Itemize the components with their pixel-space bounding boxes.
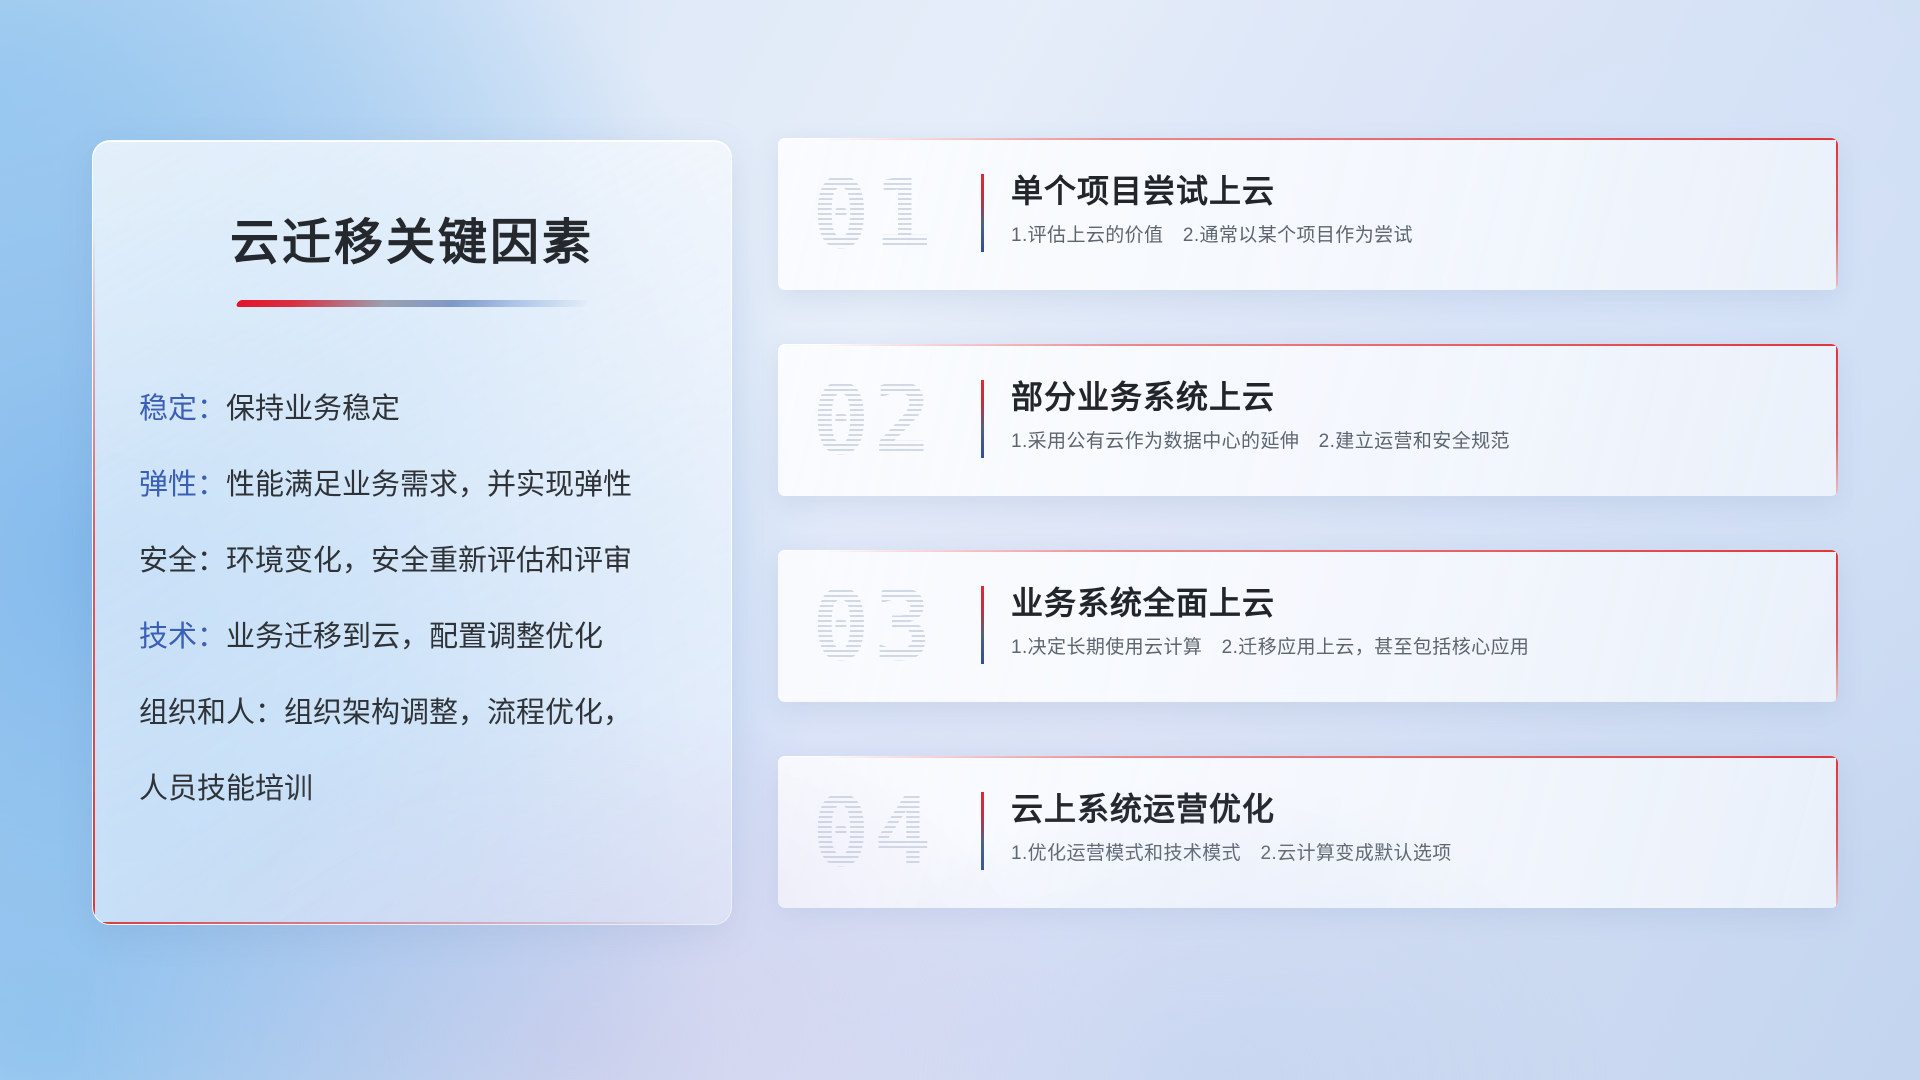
stage-description: 1.决定长期使用云计算 2.迁移应用上云，甚至包括核心应用 bbox=[1011, 636, 1808, 661]
page-title: 云迁移关键因素 bbox=[93, 203, 731, 274]
stage-number: 03 bbox=[812, 570, 936, 682]
list-item: 稳定：保持业务稳定 bbox=[139, 395, 699, 424]
stage-content: 部分业务系统上云 1.采用公有云作为数据中心的延伸 2.建立运营和安全规范 bbox=[1011, 378, 1808, 455]
stage-title: 业务系统全面上云 bbox=[1011, 584, 1808, 623]
stage-content: 业务系统全面上云 1.决定长期使用云计算 2.迁移应用上云，甚至包括核心应用 bbox=[1011, 584, 1808, 661]
stage-accent-bar bbox=[981, 792, 984, 870]
factor-value: 业务迁移到云，配置调整优化 bbox=[226, 621, 603, 653]
stage-card-02[interactable]: 02 部分业务系统上云 1.采用公有云作为数据中心的延伸 2.建立运营和安全规范 bbox=[778, 344, 1838, 496]
factor-key: 安全： bbox=[139, 545, 226, 577]
stage-accent-bar bbox=[981, 380, 984, 458]
stage-description: 1.评估上云的价值 2.通常以某个项目作为尝试 bbox=[1011, 224, 1808, 249]
stage-title: 部分业务系统上云 bbox=[1011, 378, 1808, 417]
stage-card-03[interactable]: 03 业务系统全面上云 1.决定长期使用云计算 2.迁移应用上云，甚至包括核心应… bbox=[778, 550, 1838, 702]
list-item: 技术：业务迁移到云，配置调整优化 bbox=[139, 623, 699, 652]
stage-description: 1.采用公有云作为数据中心的延伸 2.建立运营和安全规范 bbox=[1011, 430, 1808, 455]
stage-accent-bar bbox=[981, 174, 984, 252]
stage-card-04[interactable]: 04 云上系统运营优化 1.优化运营模式和技术模式 2.云计算变成默认选项 bbox=[778, 756, 1838, 908]
slide-canvas: 云迁移关键因素 稳定：保持业务稳定 弹性：性能满足业务需求，并实现弹性 安全：环… bbox=[0, 0, 1920, 1080]
stage-number: 04 bbox=[812, 776, 936, 888]
key-factors-panel: 云迁移关键因素 稳定：保持业务稳定 弹性：性能满足业务需求，并实现弹性 安全：环… bbox=[92, 140, 732, 925]
list-item: 安全：环境变化，安全重新评估和评审 bbox=[139, 547, 699, 576]
list-item: 组织和人：组织架构调整，流程优化， 人员技能培训 bbox=[139, 699, 699, 804]
stage-card-01[interactable]: 01 单个项目尝试上云 1.评估上云的价值 2.通常以某个项目作为尝试 bbox=[778, 138, 1838, 290]
title-underline-rule bbox=[235, 300, 588, 307]
factor-key: 稳定： bbox=[139, 393, 226, 425]
factor-key: 弹性： bbox=[139, 469, 226, 501]
stage-title: 单个项目尝试上云 bbox=[1011, 172, 1808, 211]
migration-stages-list: 01 单个项目尝试上云 1.评估上云的价值 2.通常以某个项目作为尝试 02 部… bbox=[778, 138, 1838, 908]
stage-content: 云上系统运营优化 1.优化运营模式和技术模式 2.云计算变成默认选项 bbox=[1011, 790, 1808, 867]
stage-accent-bar bbox=[981, 586, 984, 664]
list-item: 弹性：性能满足业务需求，并实现弹性 bbox=[139, 471, 699, 500]
factor-value: 性能满足业务需求，并实现弹性 bbox=[226, 469, 632, 501]
factor-value: 保持业务稳定 bbox=[226, 393, 400, 425]
key-factors-list: 稳定：保持业务稳定 弹性：性能满足业务需求，并实现弹性 安全：环境变化，安全重新… bbox=[139, 395, 699, 804]
factor-key: 技术： bbox=[139, 621, 226, 653]
factor-value: 组织架构调整，流程优化， bbox=[284, 697, 632, 729]
stage-title: 云上系统运营优化 bbox=[1011, 790, 1808, 829]
stage-number: 02 bbox=[812, 364, 936, 476]
stage-number: 01 bbox=[812, 158, 936, 270]
factor-key: 组织和人： bbox=[139, 697, 284, 729]
factor-value-continued: 人员技能培训 bbox=[139, 775, 699, 804]
stage-description: 1.优化运营模式和技术模式 2.云计算变成默认选项 bbox=[1011, 842, 1808, 867]
factor-value: 环境变化，安全重新评估和评审 bbox=[226, 545, 632, 577]
stage-content: 单个项目尝试上云 1.评估上云的价值 2.通常以某个项目作为尝试 bbox=[1011, 172, 1808, 249]
